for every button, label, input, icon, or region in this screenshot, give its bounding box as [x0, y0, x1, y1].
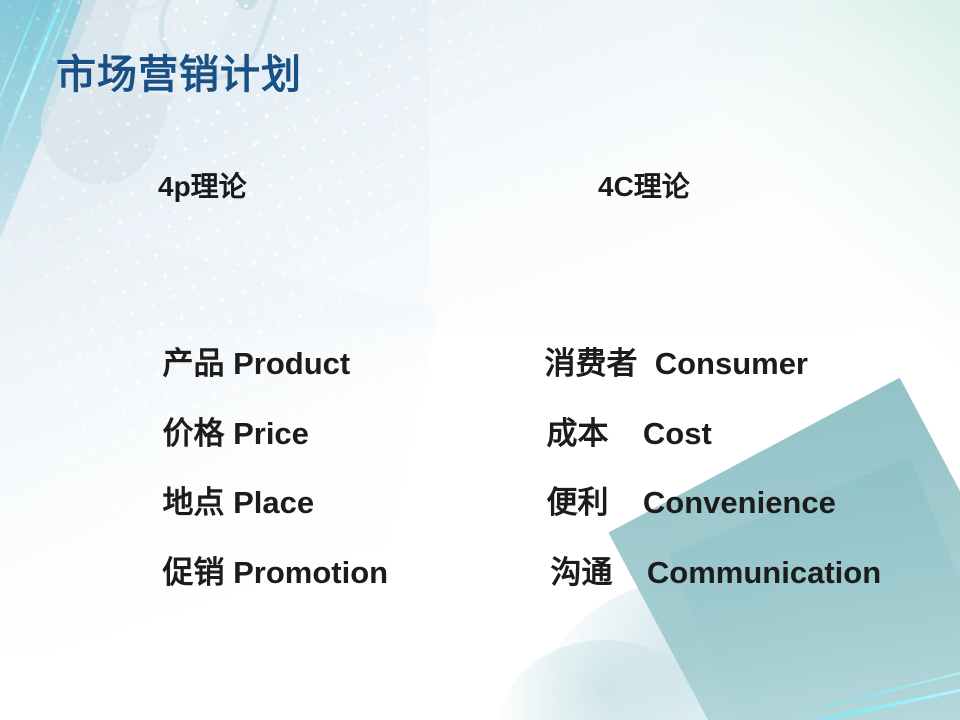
- slide-canvas: 市场营销计划 4p理论 4C理论 产品 Product 消费者 Consumer…: [0, 0, 960, 720]
- decor-cyan-streak-2: [0, 0, 46, 135]
- column-header-4c: 4C理论: [598, 165, 690, 205]
- decor-green-band-top-right-2: [729, 0, 960, 288]
- decor-teal-band-left-2: [0, 0, 73, 261]
- row-4-left-cn: 促销: [162, 555, 224, 590]
- slide-title: 市场营销计划: [56, 42, 302, 100]
- row-4-left: 促销 Promotion: [128, 511, 388, 628]
- decor-cyan-line-bottom-right-2: [792, 670, 960, 715]
- decor-soft-blob-2: [500, 640, 710, 720]
- row-4-right: 沟通 Communication: [516, 511, 881, 628]
- row-4-left-en: Promotion: [233, 555, 388, 590]
- row-4-right-en: Communication: [647, 555, 881, 590]
- decor-ring-shape-2: [86, 0, 212, 24]
- decor-dot-shape: [236, 0, 258, 10]
- row-4-right-cn: 沟通: [550, 555, 612, 590]
- column-header-4p: 4p理论: [158, 165, 247, 205]
- decor-cyan-line-bottom-right: [752, 685, 960, 720]
